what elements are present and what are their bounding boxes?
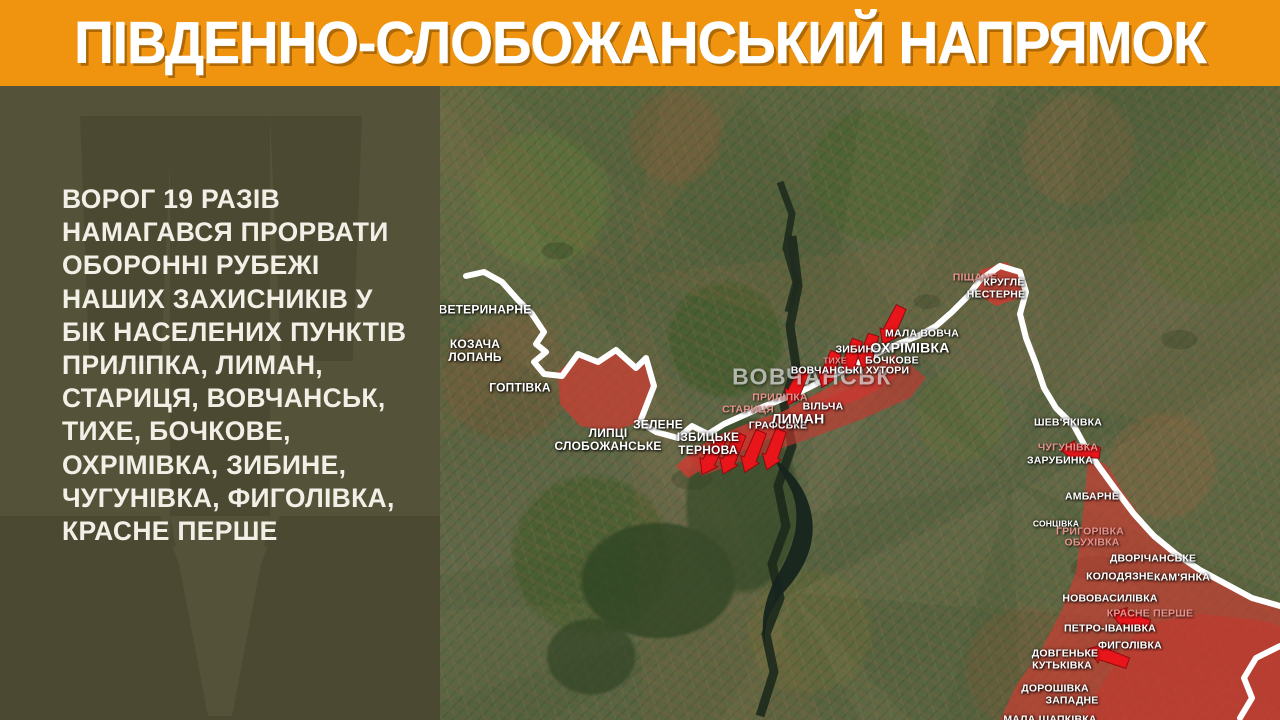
- map-label: КОЛОДЯЗНЕ: [1086, 571, 1154, 582]
- map-label: АМБАРНЕ: [1065, 491, 1119, 502]
- map-label: НОВОВАСИЛІВКА: [1062, 593, 1157, 604]
- map-label: ФИГОЛІВКА: [1098, 640, 1162, 651]
- page-title-text: ПІВДЕННО-СЛОБОЖАНСЬКИЙ НАПРЯМОК: [74, 9, 1206, 77]
- map-label: НЕСТЕРНЕ: [967, 289, 1026, 300]
- map-label: СТАРИЦЯ: [722, 404, 774, 415]
- map-label: ЗАРУБИНКА: [1027, 455, 1093, 466]
- map-label: ПРИЛІПКА: [752, 392, 808, 403]
- map-label: ЗЕЛЕНЕ: [633, 419, 683, 432]
- summary-panel: ВОРОГ 19 РАЗІВ НАМАГАВСЯ ПРОРВАТИ ОБОРОН…: [0, 86, 440, 720]
- header-banner: ПІВДЕННО-СЛОБОЖАНСЬКИЙ НАПРЯМОК: [0, 0, 1280, 86]
- map-label: ЛИМАН: [772, 411, 825, 426]
- map-label: ОХРІМІВКА: [870, 340, 949, 355]
- map-label: ЧУГУНІВКА: [1038, 442, 1098, 453]
- map-label: ВЕТЕРИНАРНЕ: [440, 304, 531, 317]
- map-label: МАЛА ВОВЧА: [885, 328, 959, 339]
- map-label: ВІЛЬЧА: [803, 401, 844, 412]
- map-label: БОЧКОВЕ: [865, 355, 919, 366]
- page-title: ПІВДЕННО-СЛОБОЖАНСЬКИЙ НАПРЯМОК: [32, 9, 1249, 77]
- map-label: ДОВГЕНЬКЕ: [1032, 648, 1099, 659]
- map-label: КУТЬКІВКА: [1032, 660, 1092, 671]
- map-label: КРУГЛЕ: [983, 277, 1024, 288]
- map-label: ДОРОШІВКА: [1021, 683, 1089, 694]
- map-label: ГОПТІВКА: [489, 382, 551, 395]
- map-label: ЗАПАДНЕ: [1045, 695, 1098, 706]
- map-label: ШЕВ'ЯКІВКА: [1034, 417, 1102, 428]
- satellite-map[interactable]: ВЕТЕРИНАРНЕКОЗАЧА ЛОПАНЬГОПТІВКАЛИПЦІ СЛ…: [440, 86, 1280, 720]
- map-label: ІЗБИЦЬКЕ ТЕРНОВА: [677, 431, 739, 457]
- map-label: КАМ'ЯНКА: [1154, 572, 1210, 583]
- map-label: ДВОРІЧАНСЬКЕ: [1110, 553, 1196, 564]
- map-label: ПЕТРО-ІВАНІВКА: [1064, 623, 1156, 634]
- map-label: КРАСНЕ ПЕРШЕ: [1107, 608, 1193, 619]
- summary-text: ВОРОГ 19 РАЗІВ НАМАГАВСЯ ПРОРВАТИ ОБОРОН…: [62, 183, 434, 548]
- map-label: КОЗАЧА ЛОПАНЬ: [448, 338, 502, 364]
- infographic-screen: ПІВДЕННО-СЛОБОЖАНСЬКИЙ НАПРЯМОК ВОРОГ 19…: [0, 0, 1280, 720]
- map-label: ВОВЧАНСЬКІ ХУТОРИ: [791, 365, 909, 376]
- map-label: МАЛА ШАПКІВКА: [1003, 714, 1096, 720]
- map-label: ОБУХІВКА: [1064, 537, 1119, 548]
